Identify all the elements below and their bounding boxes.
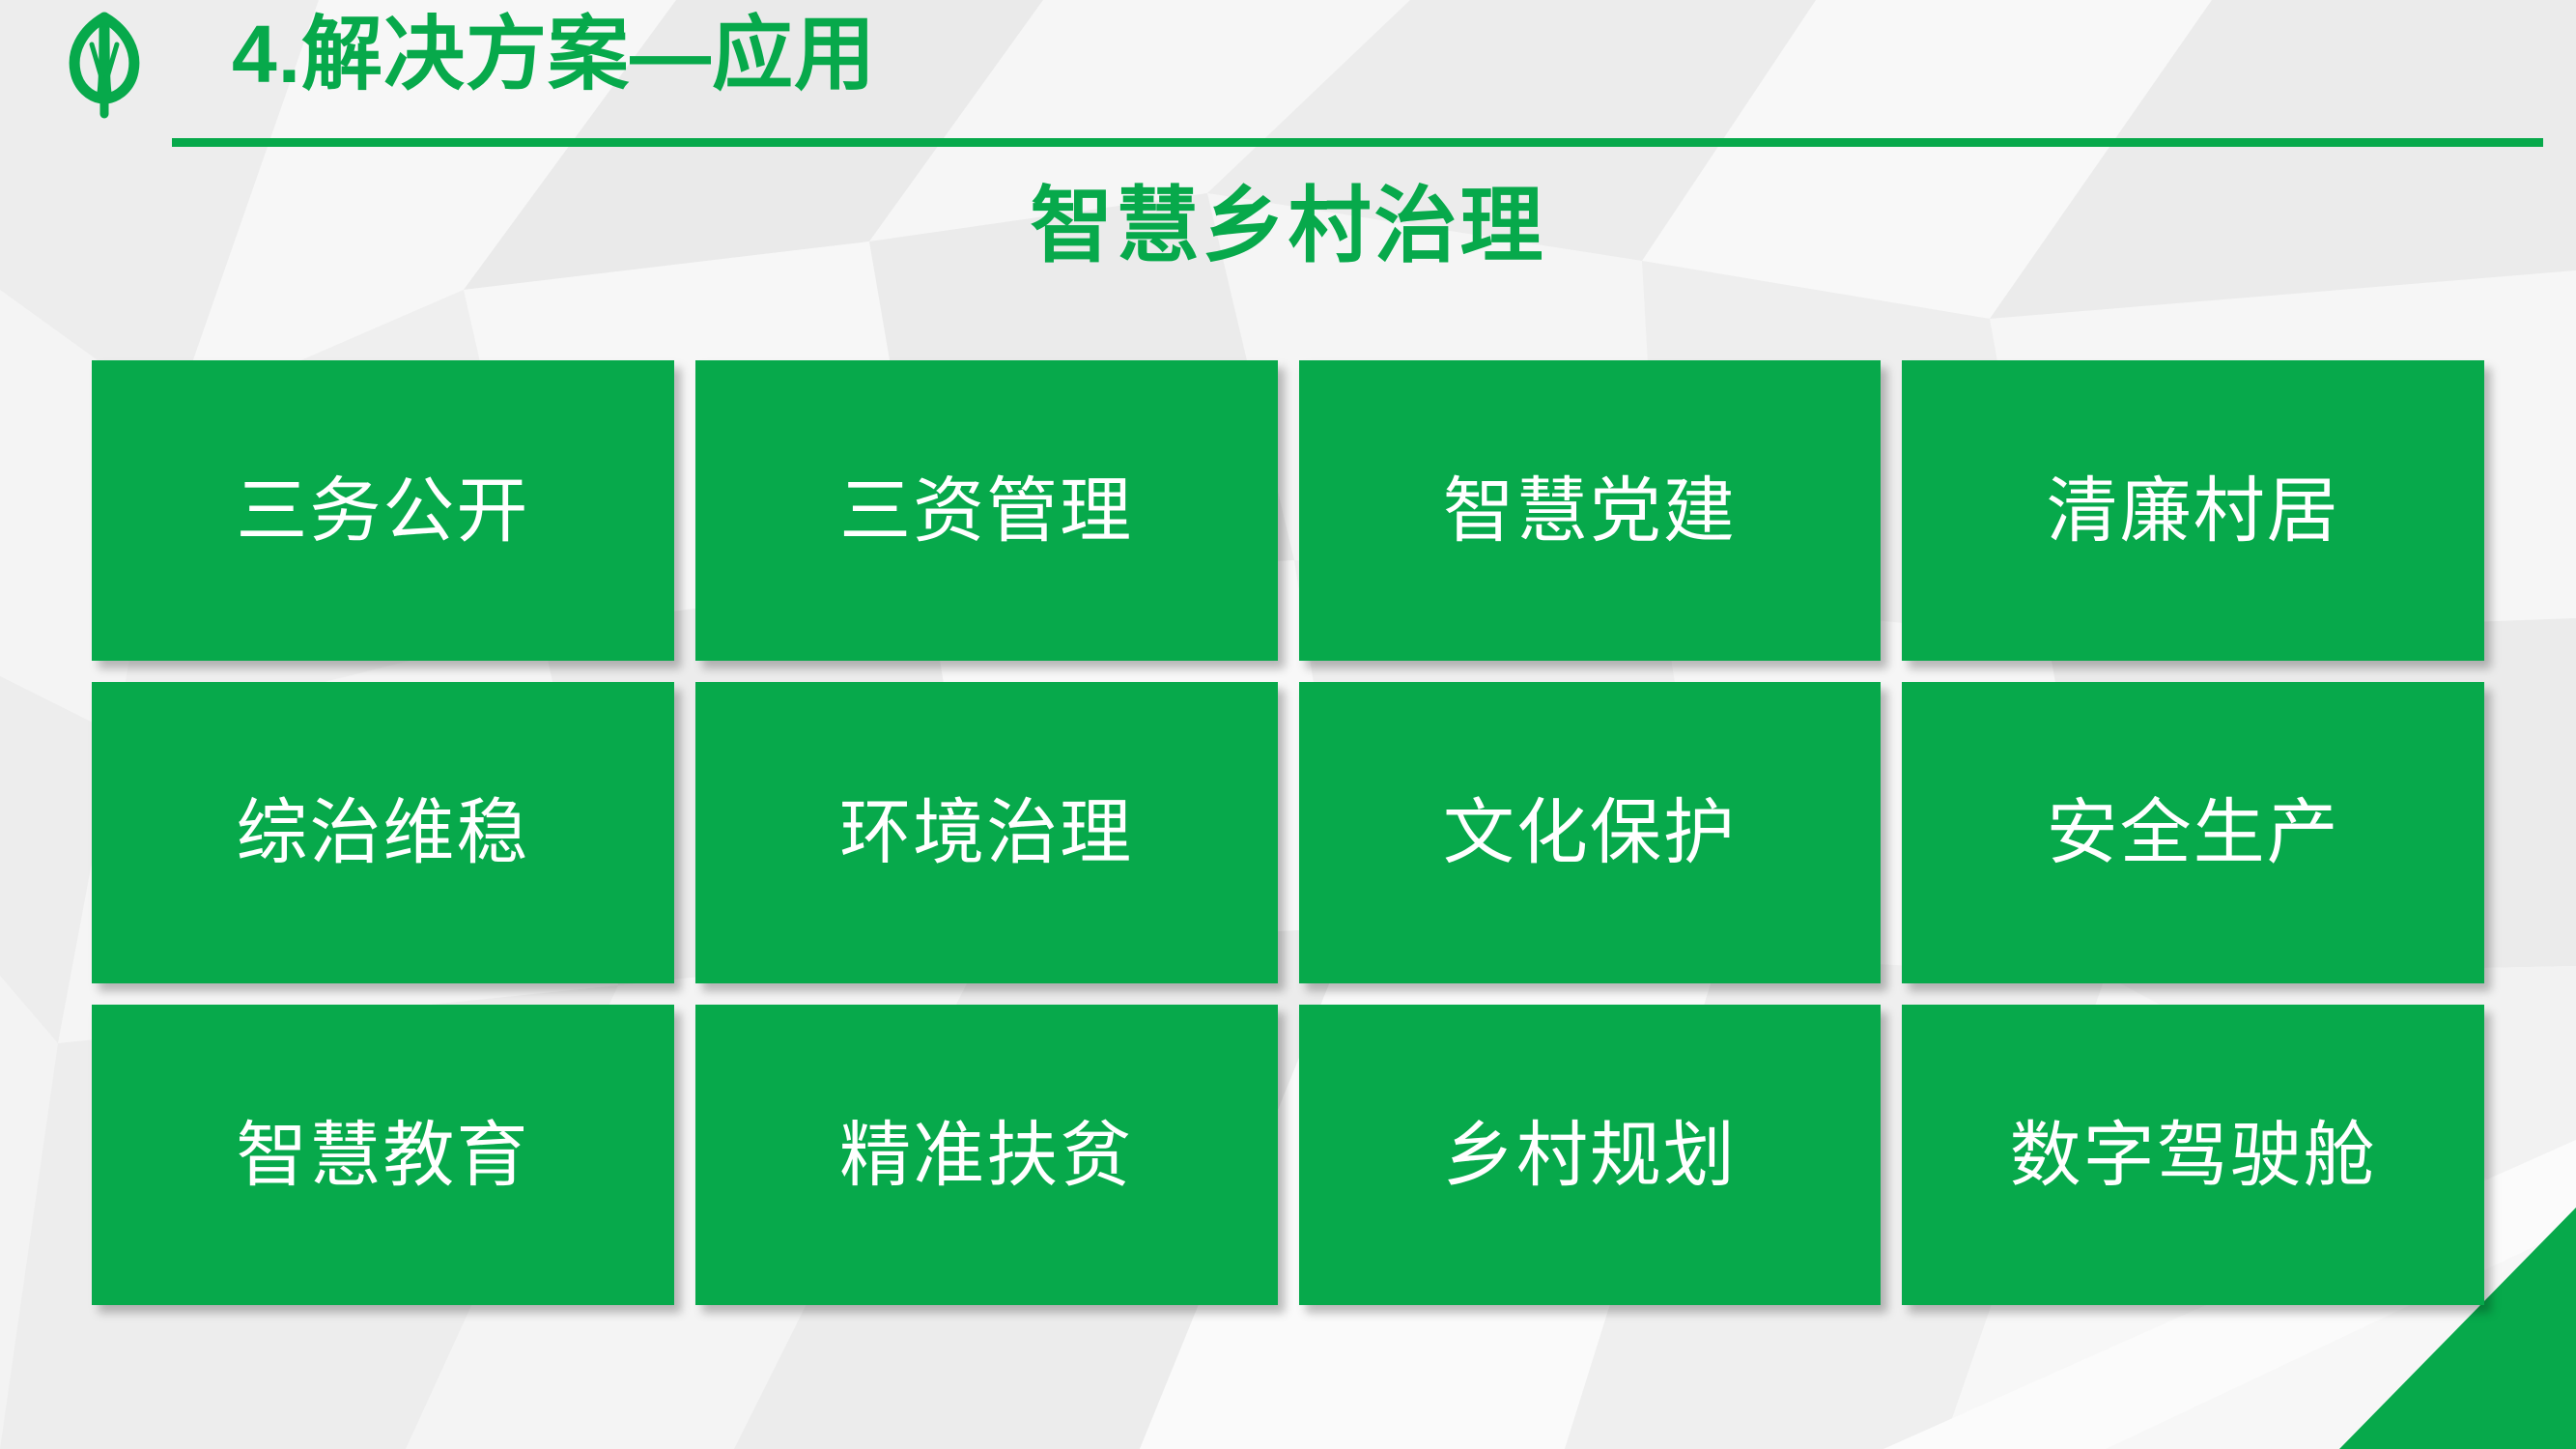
application-card[interactable]: 精准扶贫 bbox=[695, 1005, 1278, 1305]
application-card[interactable]: 乡村规划 bbox=[1299, 1005, 1882, 1305]
application-card[interactable]: 智慧教育 bbox=[92, 1005, 674, 1305]
card-label: 智慧教育 bbox=[236, 1116, 529, 1194]
section-title: 智慧乡村治理 bbox=[0, 179, 2576, 274]
application-card[interactable]: 数字驾驶舱 bbox=[1902, 1005, 2484, 1305]
card-label: 智慧党建 bbox=[1443, 471, 1737, 550]
card-label: 精准扶贫 bbox=[839, 1116, 1133, 1194]
card-label: 环境治理 bbox=[839, 793, 1133, 871]
application-card[interactable]: 清廉村居 bbox=[1902, 360, 2484, 661]
card-label: 清廉村居 bbox=[2047, 471, 2340, 550]
card-label: 乡村规划 bbox=[1443, 1116, 1737, 1194]
card-label: 综治维稳 bbox=[236, 793, 529, 871]
card-label: 文化保护 bbox=[1443, 793, 1737, 871]
application-card[interactable]: 三资管理 bbox=[695, 360, 1278, 661]
application-card[interactable]: 智慧党建 bbox=[1299, 360, 1882, 661]
slide-root: 4.解决方案—应用 智慧乡村治理 三务公开 三资管理 智慧党建 清廉村居 综治维… bbox=[0, 0, 2576, 1449]
leaf-icon bbox=[46, 6, 162, 120]
card-label: 三务公开 bbox=[236, 471, 529, 550]
application-card[interactable]: 综治维稳 bbox=[92, 682, 674, 982]
application-card[interactable]: 文化保护 bbox=[1299, 682, 1882, 982]
application-card[interactable]: 安全生产 bbox=[1902, 682, 2484, 982]
header-divider bbox=[172, 138, 2543, 147]
page-title: 4.解决方案—应用 bbox=[232, 14, 876, 95]
card-label: 安全生产 bbox=[2047, 793, 2340, 871]
card-label: 数字驾驶舱 bbox=[2010, 1116, 2377, 1194]
slide-header: 4.解决方案—应用 bbox=[0, 0, 2576, 155]
application-card[interactable]: 环境治理 bbox=[695, 682, 1278, 982]
application-card-grid: 三务公开 三资管理 智慧党建 清廉村居 综治维稳 环境治理 文化保护 安全生产 … bbox=[92, 360, 2484, 1305]
card-label: 三资管理 bbox=[839, 471, 1133, 550]
application-card[interactable]: 三务公开 bbox=[92, 360, 674, 661]
